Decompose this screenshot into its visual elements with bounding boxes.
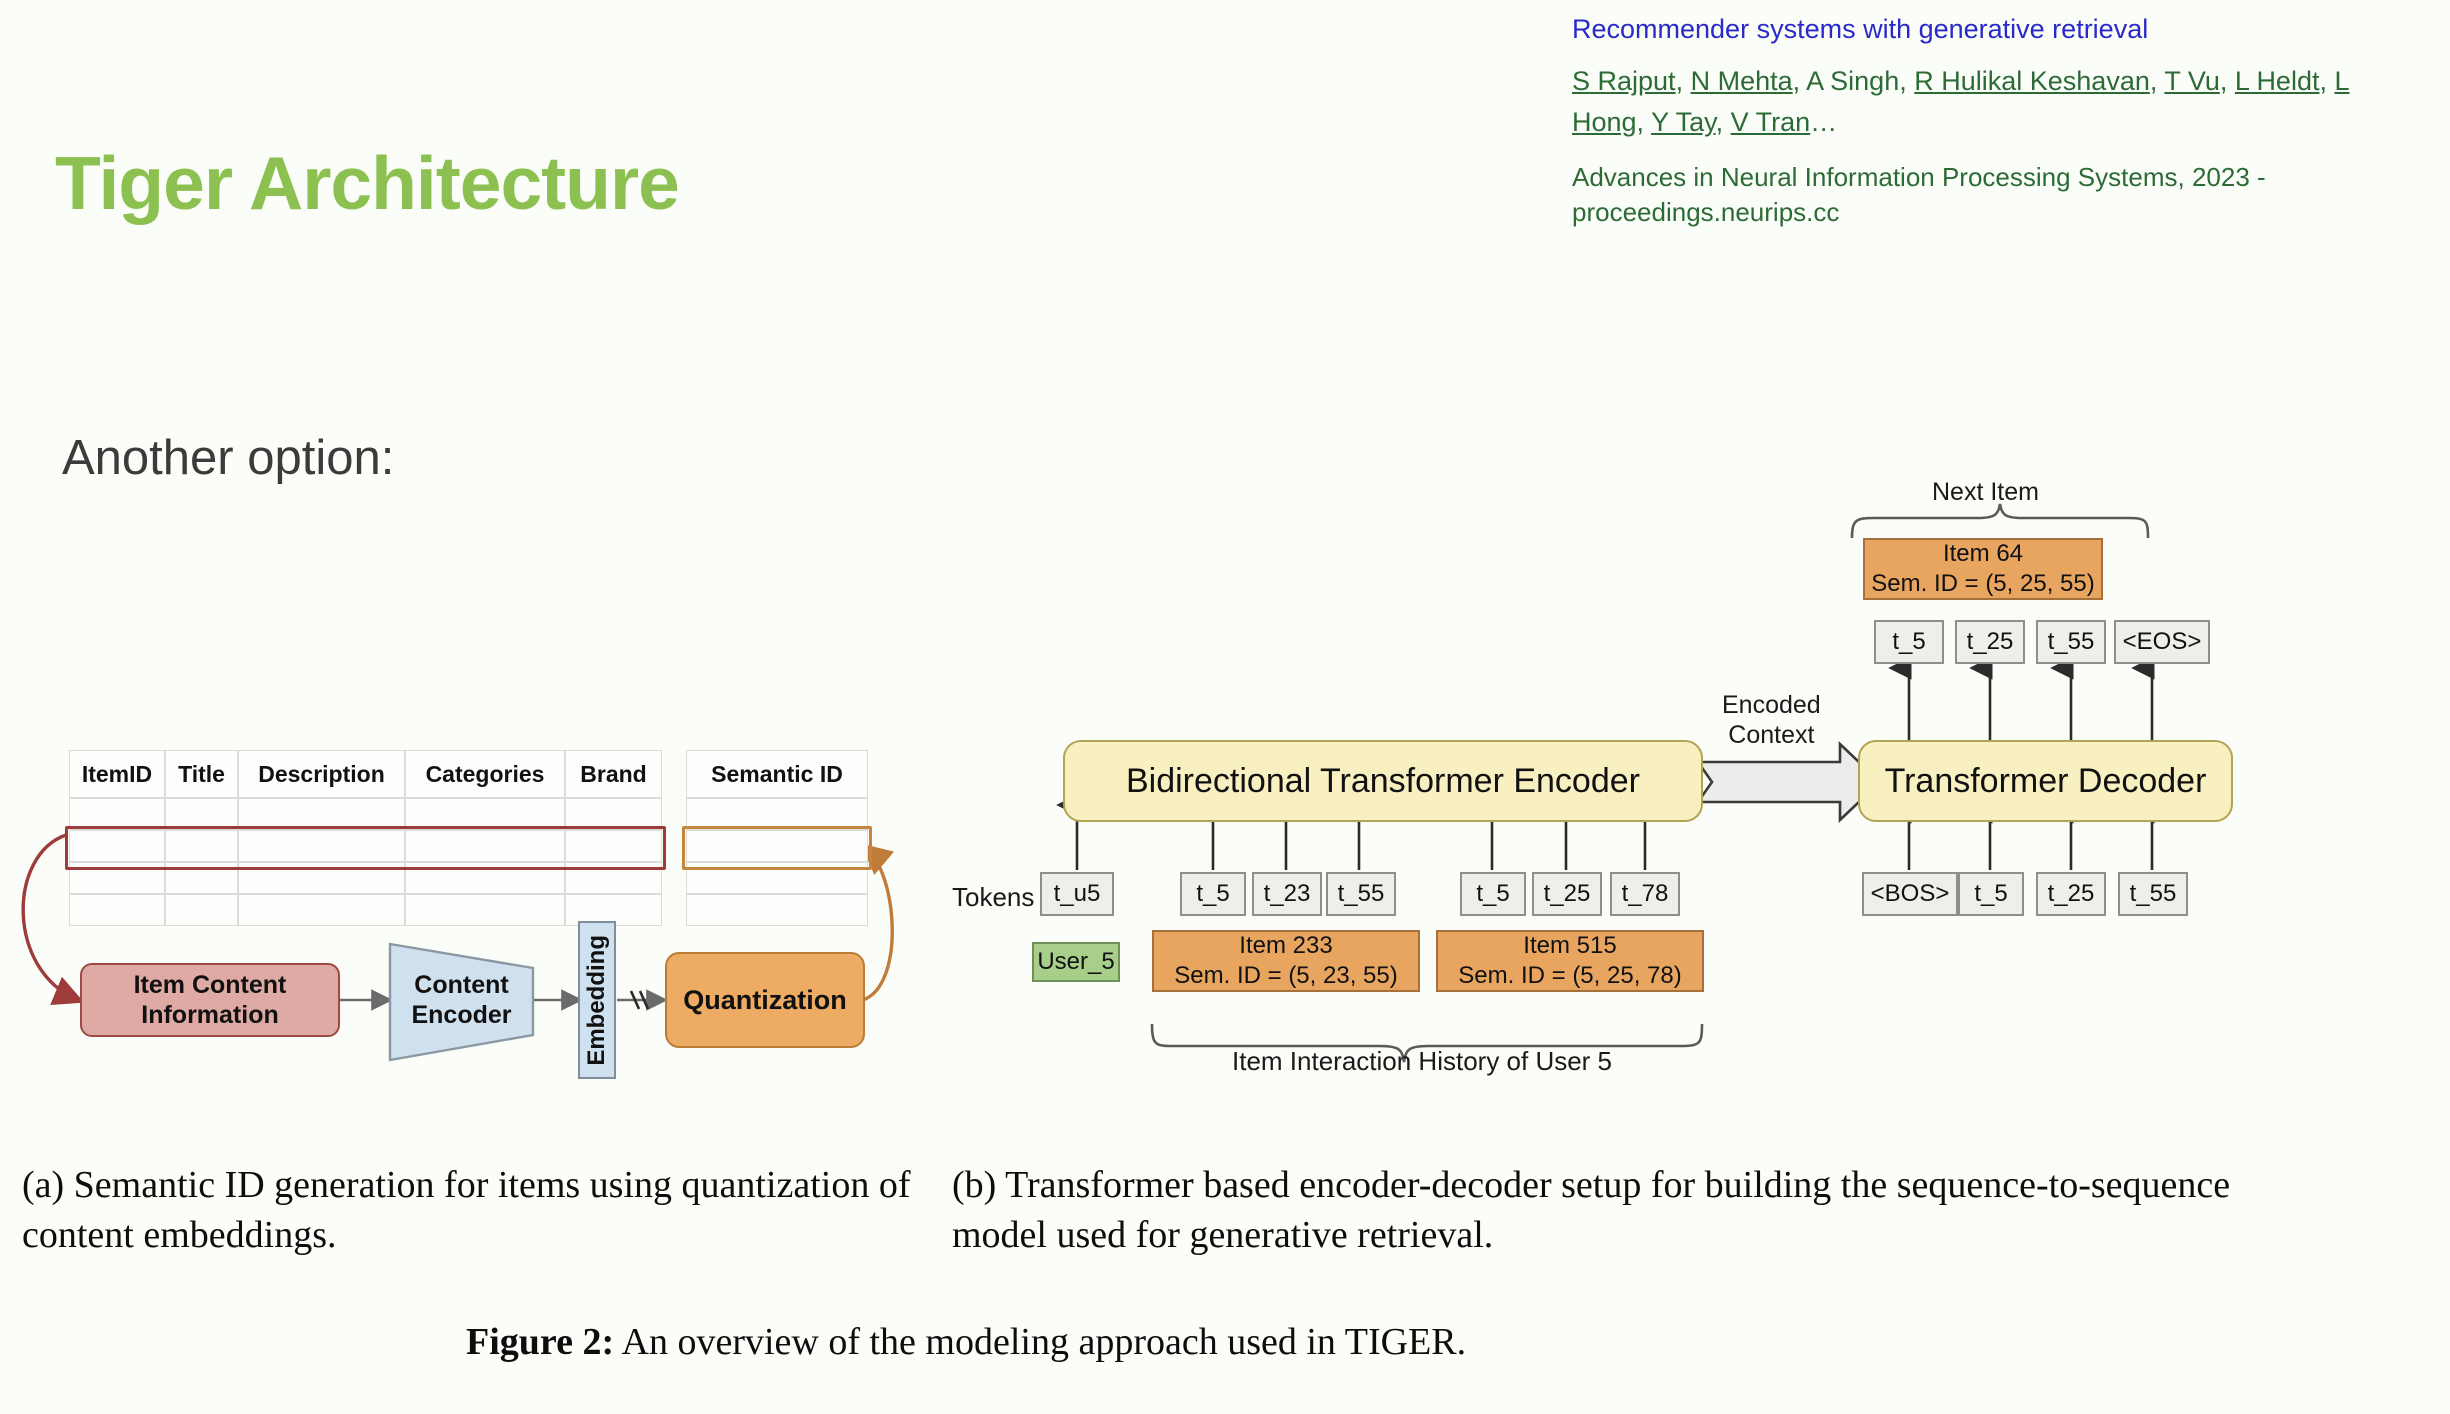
history-item-text: Item 515Sem. ID = (5, 25, 78) (1458, 931, 1681, 991)
history-item-box: Item 515Sem. ID = (5, 25, 78) (1436, 930, 1704, 992)
encoder-token: t_25 (1532, 872, 1602, 916)
decoder-output-token-eos: <EOS> (2114, 620, 2210, 664)
decoder-input-token: t_5 (1958, 872, 2024, 916)
history-item-text: Item 233Sem. ID = (5, 23, 55) (1174, 931, 1397, 991)
encoder-token: t_23 (1252, 872, 1322, 916)
tokens-label: Tokens (952, 882, 1034, 913)
decoder-input-token-bos: <BOS> (1862, 872, 1958, 916)
encoder-token: t_u5 (1040, 872, 1114, 916)
next-item-text: Item 64Sem. ID = (5, 25, 55) (1871, 539, 2094, 599)
figure-b: Next Item Item 64Sem. ID = (5, 25, 55) t… (0, 0, 2450, 1160)
encoder-token: t_78 (1610, 872, 1680, 916)
figure-number: Figure 2: (466, 1321, 614, 1363)
decoder-input-token: t_25 (2036, 872, 2106, 916)
decoder-output-token: t_55 (2036, 620, 2106, 664)
next-item-brace-label: Next Item (1932, 478, 2039, 507)
history-item-box: Item 233Sem. ID = (5, 23, 55) (1152, 930, 1420, 992)
next-item-box: Item 64Sem. ID = (5, 25, 55) (1863, 538, 2103, 600)
history-brace-label: Item Interaction History of User 5 (1232, 1046, 1612, 1077)
user-box: User_5 (1032, 942, 1120, 982)
encoder-token: t_5 (1460, 872, 1526, 916)
decoder-label: Transformer Decoder (1885, 762, 2207, 801)
encoder-token: t_55 (1326, 872, 1396, 916)
bidirectional-transformer-encoder: Bidirectional Transformer Encoder (1063, 740, 1703, 822)
figure-caption-text: An overview of the modeling approach use… (622, 1321, 1467, 1363)
decoder-output-token: t_5 (1874, 620, 1944, 664)
caption-a: (a) Semantic ID generation for items usi… (22, 1160, 922, 1260)
caption-b: (b) Transformer based encoder-decoder se… (952, 1160, 2252, 1260)
transformer-decoder: Transformer Decoder (1858, 740, 2233, 822)
decoder-output-token: t_25 (1955, 620, 2025, 664)
encoder-token: t_5 (1180, 872, 1246, 916)
encoded-context-label: EncodedContext (1722, 690, 1821, 750)
encoder-label: Bidirectional Transformer Encoder (1126, 762, 1640, 801)
decoder-input-token: t_55 (2118, 872, 2188, 916)
figure-caption: Figure 2: An overview of the modeling ap… (466, 1320, 1466, 1364)
